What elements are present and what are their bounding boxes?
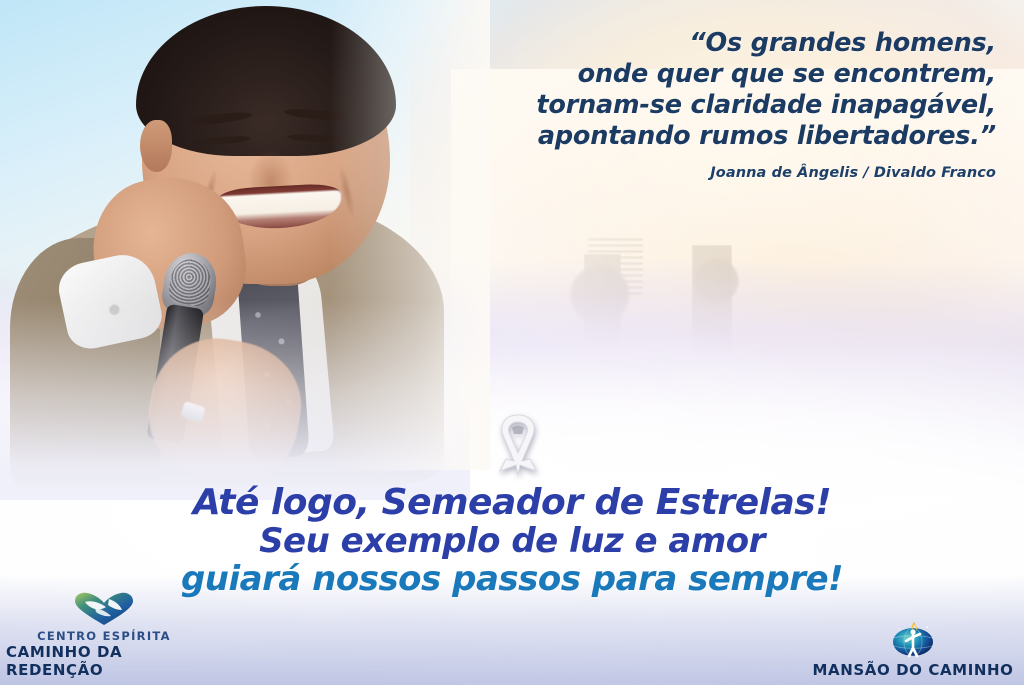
logo-right-line-1: MANSÃO DO CAMINHO <box>812 661 1013 679</box>
quote-line-3: tornam-se claridade inapagável, <box>436 90 996 121</box>
ear-shape <box>140 120 172 172</box>
quote-block: “Os grandes homens, onde quer que se enc… <box>436 28 996 181</box>
memorial-poster: “Os grandes homens, onde quer que se enc… <box>0 0 1024 685</box>
quote-line-4: apontando rumos libertadores.” <box>436 121 996 152</box>
heart-with-hands-icon <box>73 592 135 626</box>
logo-mansao-do-caminho[interactable]: MANSÃO DO CAMINHO <box>808 618 1018 679</box>
logo-centro-espirita-caminho-da-redencao[interactable]: CENTRO ESPÍRITA CAMINHO DA REDENÇÃO <box>6 592 202 679</box>
globe-with-figure-and-torch-icon <box>883 618 943 658</box>
white-mourning-ribbon-icon <box>486 409 550 487</box>
headline-line-1: Até logo, Semeador de Estrelas! <box>0 484 1024 522</box>
headline-block: Até logo, Semeador de Estrelas! Seu exem… <box>0 484 1024 598</box>
quote-line-2: onde quer que se encontrem, <box>436 59 996 90</box>
logo-left-line-1: CENTRO ESPÍRITA <box>37 629 171 643</box>
headline-line-2: Seu exemplo de luz e amor <box>0 522 1024 560</box>
portrait-smiling-man-with-microphone <box>0 0 470 470</box>
quote-line-1: “Os grandes homens, <box>436 28 996 59</box>
logo-left-line-2: CAMINHO DA REDENÇÃO <box>6 643 202 679</box>
quote-author: Joanna de Ângelis / Divaldo Franco <box>436 165 996 181</box>
